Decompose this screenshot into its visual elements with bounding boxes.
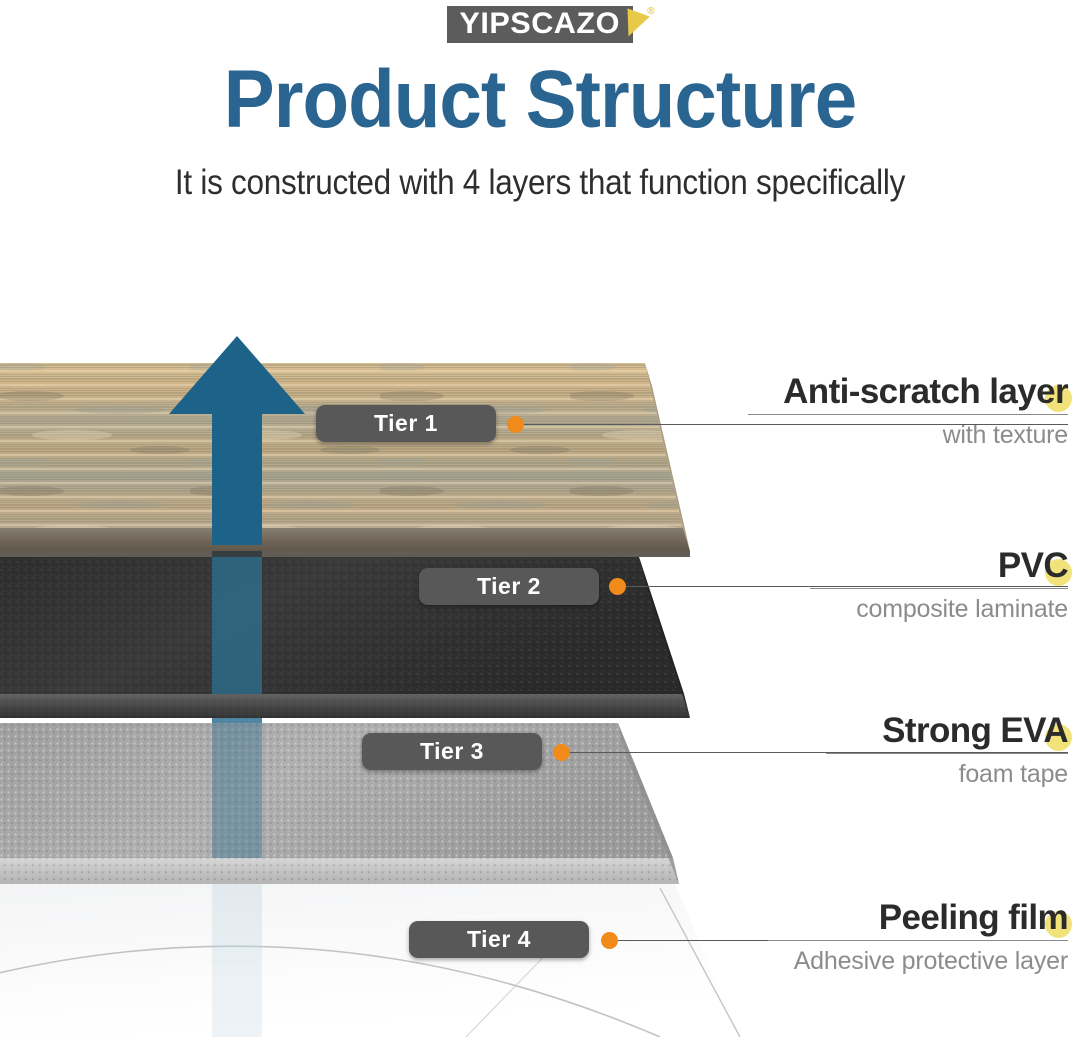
annotation-rule-1 <box>748 414 1068 415</box>
annotation-subtitle-4: Adhesive protective layer <box>768 947 1068 976</box>
annotation-rule-3 <box>826 753 1068 754</box>
page-subtitle: It is constructed with 4 layers that fun… <box>54 163 1026 203</box>
tier-badge-1[interactable]: Tier 1 <box>316 405 496 442</box>
annotation-title-4: Peeling film <box>879 900 1068 937</box>
connector-dot-3 <box>553 744 570 761</box>
annotation-subtitle-1: with texture <box>748 421 1068 450</box>
tier-badge-4[interactable]: Tier 4 <box>409 921 589 958</box>
accent-dot-icon-4 <box>1045 911 1072 938</box>
logo-text: YIPSCAZO <box>460 9 621 39</box>
annotation-title-1: Anti-scratch layer <box>783 374 1068 411</box>
logo-bar: YIPSCAZO ® <box>447 6 632 43</box>
layer-anti-scratch <box>0 363 690 557</box>
annotation-rule-4 <box>768 940 1068 941</box>
layer-stack-diagram <box>0 0 1080 1037</box>
product-structure-infographic: YIPSCAZO ® Product Structure It is const… <box>0 0 1080 1037</box>
annotation-peeling-film: Peeling film Adhesive protective layer <box>768 900 1068 976</box>
connector-dot-4 <box>601 932 618 949</box>
page-title: Product Structure <box>38 58 1042 142</box>
annotation-strong-eva: Strong EVA foam tape <box>826 713 1068 789</box>
tier-badge-3[interactable]: Tier 3 <box>362 733 542 770</box>
accent-dot-icon-3 <box>1045 724 1072 751</box>
accent-dot-icon-2 <box>1045 559 1072 586</box>
tier-badge-2[interactable]: Tier 2 <box>419 568 599 605</box>
annotation-pvc: PVC composite laminate <box>810 548 1068 624</box>
annotation-subtitle-3: foam tape <box>826 760 1068 789</box>
connector-dot-1 <box>507 416 524 433</box>
annotation-title-3: Strong EVA <box>882 713 1068 750</box>
connector-dot-2 <box>609 578 626 595</box>
layer-strong-eva <box>0 723 679 884</box>
annotation-subtitle-2: composite laminate <box>810 595 1068 624</box>
annotation-anti-scratch: Anti-scratch layer with texture <box>748 374 1068 450</box>
layer-peeling-film <box>0 880 740 1037</box>
accent-dot-icon-1 <box>1045 385 1072 412</box>
brand-logo: YIPSCAZO ® <box>0 6 1080 43</box>
annotation-title-2: PVC <box>998 548 1068 585</box>
registered-trademark-icon: ® <box>647 6 654 17</box>
annotation-rule-2 <box>810 588 1068 589</box>
